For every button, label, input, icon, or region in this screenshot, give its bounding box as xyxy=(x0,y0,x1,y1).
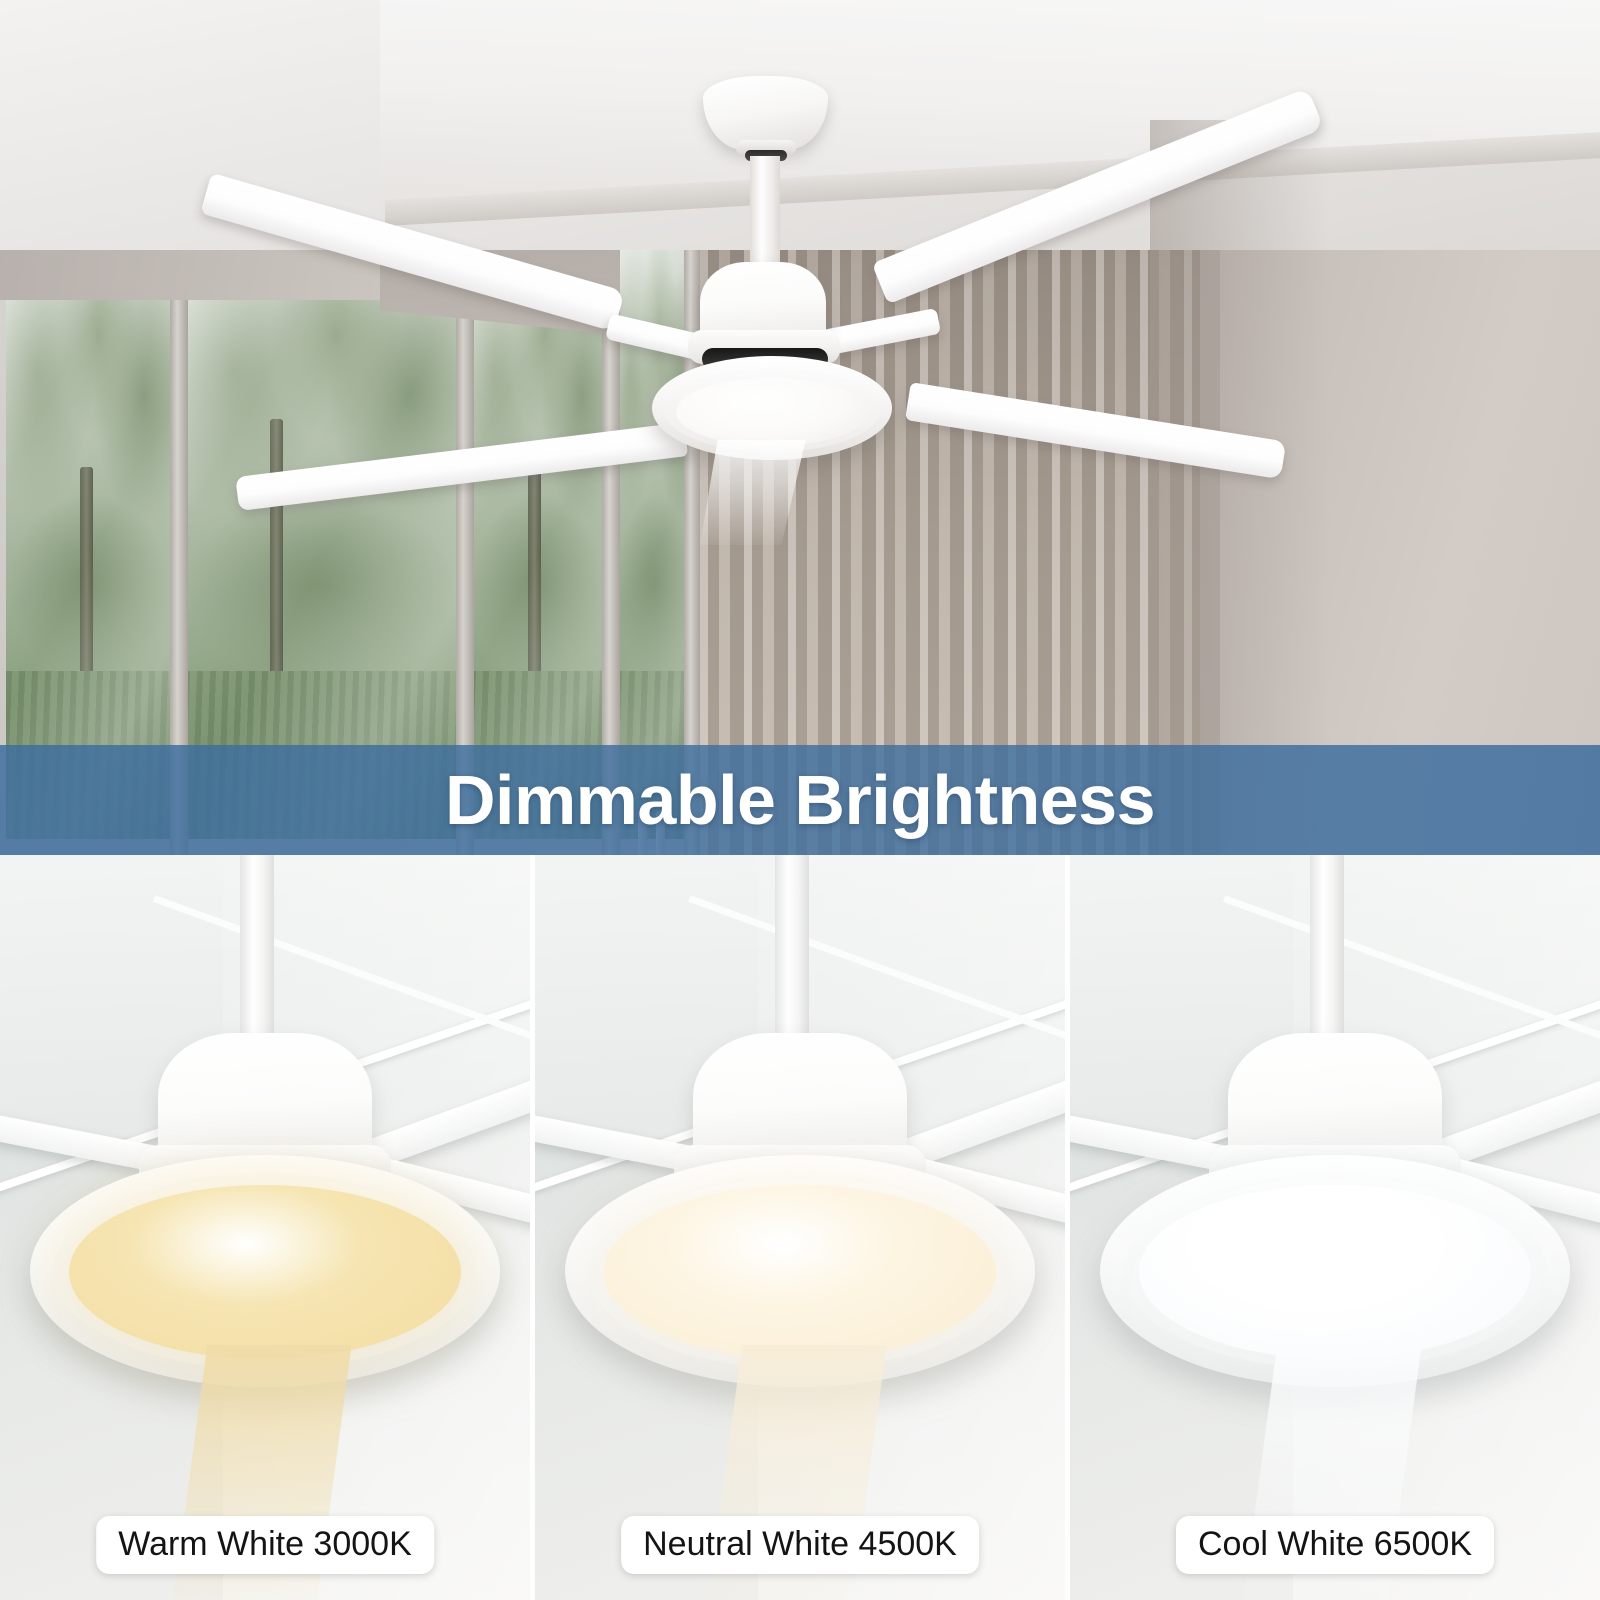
brightness-slider[interactable]: 10% 100% xyxy=(0,540,1600,700)
light-kit-lens xyxy=(604,1185,996,1359)
color-temperature-panel-cool: Cool White 6500K xyxy=(1065,855,1600,1600)
color-temperature-panel-neutral: Neutral White 4500K xyxy=(530,855,1065,1600)
color-temperature-panel-warm: Warm White 3000K xyxy=(0,855,530,1600)
product-feature-image: 10% 100% Dimmable Brightness Warm White … xyxy=(0,0,1600,1600)
downrod xyxy=(1310,855,1344,1045)
light-kit-lens xyxy=(676,378,868,446)
ceiling-canopy xyxy=(703,76,828,150)
fan-blade xyxy=(235,422,688,511)
color-temperature-panels: Warm White 3000K Neutral White 4500K xyxy=(0,855,1600,1600)
light-beam xyxy=(700,440,810,545)
downrod xyxy=(240,855,274,1045)
fan-blade xyxy=(905,382,1286,479)
fan-blade xyxy=(200,173,625,332)
banner: Dimmable Brightness xyxy=(0,745,1600,855)
downrod xyxy=(750,156,780,271)
ceiling-fan xyxy=(0,0,1600,855)
color-temperature-label: Cool White 6500K xyxy=(1176,1516,1494,1574)
banner-title: Dimmable Brightness xyxy=(445,765,1155,835)
downrod xyxy=(775,855,809,1045)
room-scene: 10% 100% Dimmable Brightness xyxy=(0,0,1600,855)
light-kit-lens xyxy=(69,1185,461,1359)
fan-blade xyxy=(872,88,1324,305)
color-temperature-label: Neutral White 4500K xyxy=(621,1516,979,1574)
light-kit-lens xyxy=(1139,1185,1531,1359)
color-temperature-label: Warm White 3000K xyxy=(96,1516,434,1574)
